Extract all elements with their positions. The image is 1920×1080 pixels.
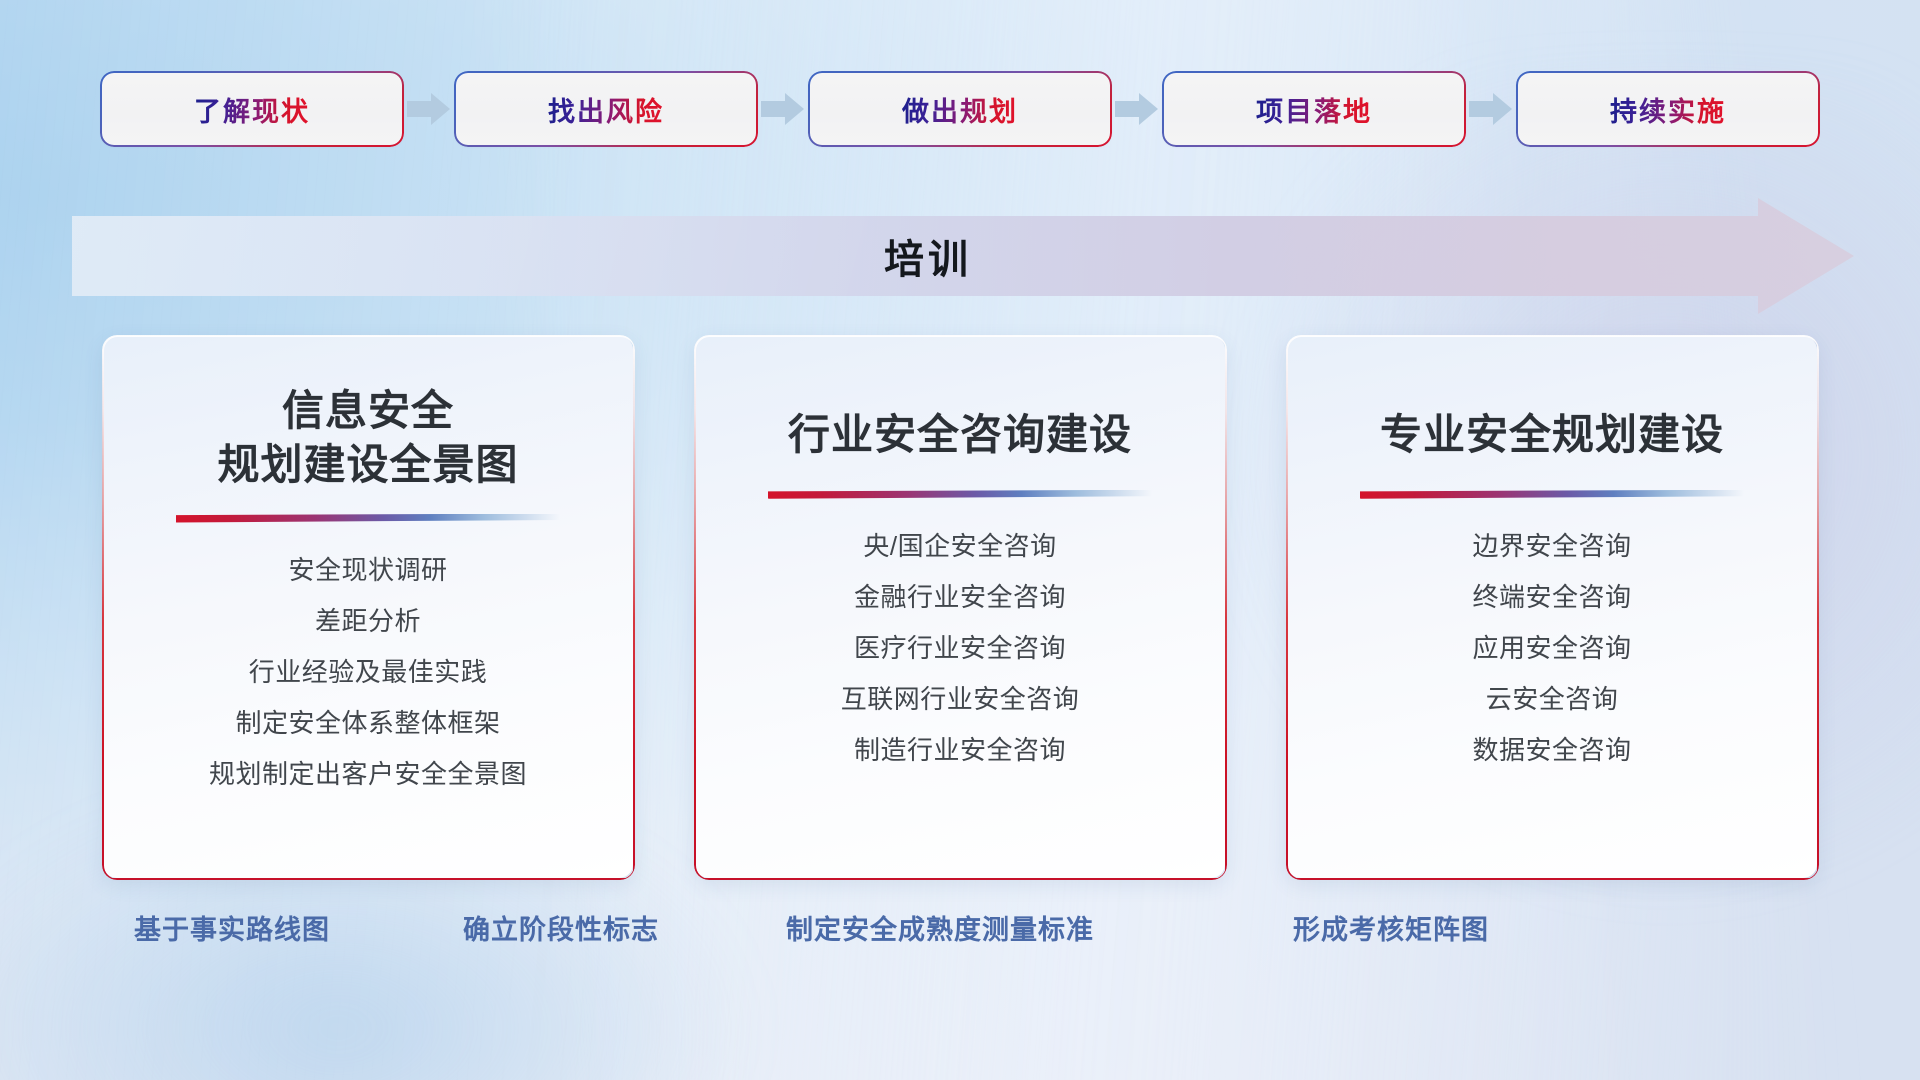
list-item: 边界安全咨询 — [1287, 533, 1817, 559]
training-banner: 培训 — [72, 198, 1854, 314]
list-item: 互联网行业安全咨询 — [695, 686, 1225, 712]
card-information-security-blueprint[interactable]: 信息安全 规划建设全景图 安全现状调研 差距分析 行业经验及最佳实践 制定安全体… — [103, 336, 633, 878]
process-arrow-icon-2 — [756, 89, 810, 129]
card-2-accent-rule — [768, 490, 1152, 499]
card-1-accent-rule — [176, 514, 560, 523]
list-item: 行业经验及最佳实践 — [103, 659, 633, 685]
list-item: 应用安全咨询 — [1287, 635, 1817, 661]
footer-label-row: 基于事实路线图 确立阶段性标志 制定安全成熟度测量标准 形成考核矩阵图 — [0, 908, 1920, 978]
card-row: 信息安全 规划建设全景图 安全现状调研 差距分析 行业经验及最佳实践 制定安全体… — [0, 336, 1920, 878]
process-step-4[interactable]: 项目落地 — [1164, 73, 1464, 145]
process-step-2-label: 找出风险 — [548, 90, 664, 129]
list-item: 差距分析 — [103, 608, 633, 634]
list-item: 云安全咨询 — [1287, 686, 1817, 712]
card-3-title: 专业安全规划建设 — [1287, 408, 1817, 462]
process-step-5-label: 持续实施 — [1610, 90, 1726, 129]
process-step-row: 了解现状 找出风险 做出规划 项目落地 持续实施 — [0, 70, 1920, 148]
card-2-item-list: 央/国企安全咨询 金融行业安全咨询 医疗行业安全咨询 互联网行业安全咨询 制造行… — [695, 533, 1225, 763]
process-step-1[interactable]: 了解现状 — [102, 73, 402, 145]
process-arrow-icon-3 — [1110, 89, 1164, 129]
footer-label-milestones: 确立阶段性标志 — [463, 908, 659, 947]
process-step-3-label: 做出规划 — [902, 90, 1018, 129]
card-industry-security-consulting[interactable]: 行业安全咨询建设 央/国企安全咨询 金融行业安全咨询 医疗行业安全咨询 互联网行… — [695, 336, 1225, 878]
card-1-item-list: 安全现状调研 差距分析 行业经验及最佳实践 制定安全体系整体框架 规划制定出客户… — [103, 557, 633, 787]
list-item: 金融行业安全咨询 — [695, 584, 1225, 610]
process-arrow-icon-1 — [402, 89, 456, 129]
card-3-item-list: 边界安全咨询 终端安全咨询 应用安全咨询 云安全咨询 数据安全咨询 — [1287, 533, 1817, 763]
list-item: 制定安全体系整体框架 — [103, 710, 633, 736]
card-2-title: 行业安全咨询建设 — [695, 408, 1225, 462]
list-item: 数据安全咨询 — [1287, 737, 1817, 763]
footer-label-roadmap: 基于事实路线图 — [134, 908, 330, 947]
process-step-4-label: 项目落地 — [1256, 90, 1372, 129]
list-item: 制造行业安全咨询 — [695, 737, 1225, 763]
process-step-5[interactable]: 持续实施 — [1518, 73, 1818, 145]
banner-title: 培训 — [72, 198, 1854, 314]
process-arrow-icon-4 — [1464, 89, 1518, 129]
card-1-title: 信息安全 规划建设全景图 — [103, 384, 633, 492]
card-professional-security-planning[interactable]: 专业安全规划建设 边界安全咨询 终端安全咨询 应用安全咨询 云安全咨询 数据安全… — [1287, 336, 1817, 878]
list-item: 终端安全咨询 — [1287, 584, 1817, 610]
list-item: 安全现状调研 — [103, 557, 633, 583]
list-item: 医疗行业安全咨询 — [695, 635, 1225, 661]
list-item: 规划制定出客户安全全景图 — [103, 761, 633, 787]
process-step-1-label: 了解现状 — [194, 90, 310, 129]
card-3-accent-rule — [1360, 490, 1744, 499]
list-item: 央/国企安全咨询 — [695, 533, 1225, 559]
footer-label-maturity-scale: 制定安全成熟度测量标准 — [786, 908, 1094, 947]
process-step-3[interactable]: 做出规划 — [810, 73, 1110, 145]
process-step-2[interactable]: 找出风险 — [456, 73, 756, 145]
footer-label-assessment-matrix: 形成考核矩阵图 — [1293, 908, 1489, 947]
